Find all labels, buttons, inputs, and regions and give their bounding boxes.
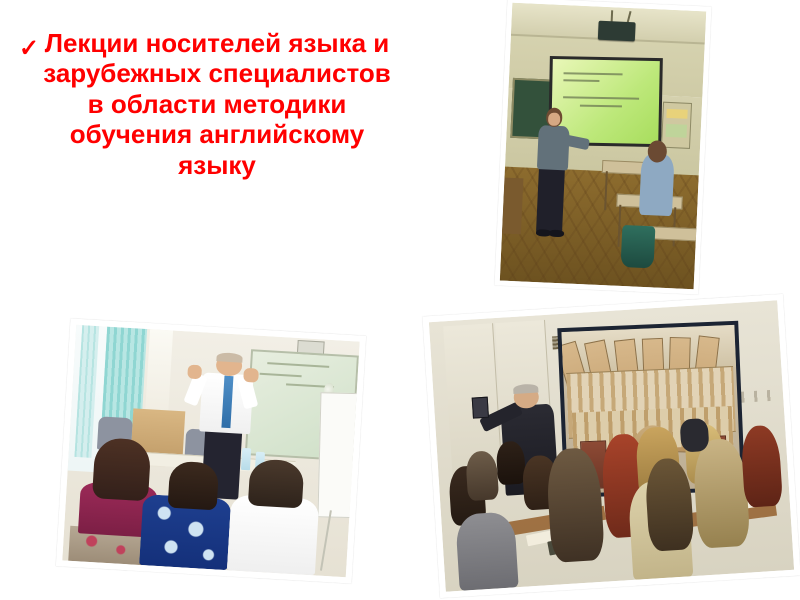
presenter-face [548, 113, 560, 126]
chair [502, 178, 524, 234]
page-title: Лекции носителей языка и зарубежных спец… [34, 28, 400, 180]
lecture-hall-scene [429, 300, 794, 591]
notice-board [661, 101, 692, 149]
lecture-hall-photo [423, 294, 800, 598]
handheld-device [472, 397, 489, 419]
ceiling-projector [598, 21, 636, 42]
handbag [621, 225, 656, 268]
participant-three-blouse [227, 495, 319, 576]
seminar-room-scene [500, 3, 706, 290]
seated-student-body [639, 153, 675, 216]
audience-dark-top [680, 418, 710, 452]
lecturer-hand-right [244, 368, 259, 383]
presentation-slide: ✓ Лекции носителей языка и зарубежных сп… [0, 0, 800, 600]
title-text-block: ✓ Лекции носителей языка и зарубежных сп… [8, 28, 408, 180]
lecturer-hair [216, 352, 242, 363]
small-group-lecture-photo [56, 318, 366, 583]
participant-one-hair [92, 437, 152, 502]
small-group-scene [62, 325, 359, 577]
audience-back-grey [455, 512, 519, 591]
presenter-torso [537, 125, 570, 171]
water-bottle-one [241, 448, 251, 470]
lecturer-hand-left [187, 364, 202, 379]
seminar-room-photo [495, 0, 712, 294]
presenter-legs [536, 165, 565, 233]
participant-two-hair [168, 460, 219, 510]
flipchart-easel [317, 392, 359, 518]
checkmark-icon: ✓ [16, 36, 42, 62]
